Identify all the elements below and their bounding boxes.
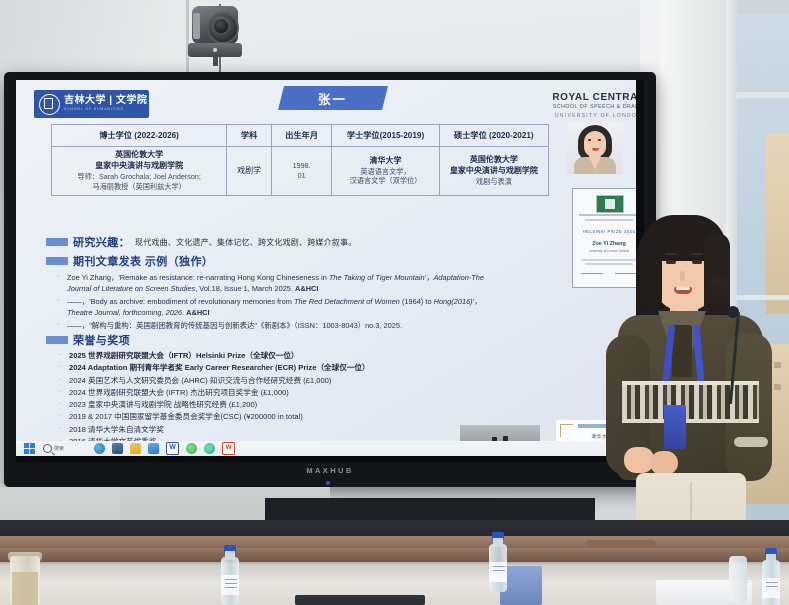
display-brand-label: MAXHUB (4, 466, 656, 475)
display-power-led (326, 481, 330, 485)
birth-month: 01 (274, 171, 329, 181)
search-placeholder: 搜索 (54, 445, 64, 452)
pub2-index: A&HCI (186, 308, 209, 317)
research-title: 研究兴趣： (73, 234, 130, 250)
camera-led (213, 48, 217, 52)
phd-line4: 马海丽教授（英国利兹大学） (54, 182, 224, 192)
bottle-label (489, 562, 507, 582)
td-discipline: 戏剧学 (227, 147, 272, 196)
presenter-hand-right (650, 451, 678, 475)
td-phd: 英国伦敦大学 皇家中央演讲与戏剧学院 导师：Sarah Grochala; Jo… (52, 147, 227, 196)
window-mullion-upper (736, 92, 789, 98)
sweater-fairisle-pattern (622, 385, 759, 419)
presenter-name-banner: 张一 (278, 86, 388, 110)
conference-table-edge (0, 548, 789, 562)
award-2: 2024 英国艺术与人文研究委员会 (AHRC) 知识交流与合作经研究经费 (£… (69, 375, 456, 387)
pub1-title: The Taking of Tiger Mountain' (329, 273, 426, 282)
cv-table: 博士学位 (2022-2026) 学科 出生年月 学士学位(2015-2019)… (51, 124, 549, 196)
ptz-camera (186, 4, 244, 66)
master-line2: 皇家中央演讲与戏剧学院 (442, 166, 546, 177)
rc-line1: ROYAL CENTRAL (546, 92, 636, 104)
tea-jar-contents (12, 572, 38, 605)
phd-line1: 英国伦敦大学 (54, 150, 224, 161)
table-row: 英国伦敦大学 皇家中央演讲与戏剧学院 导师：Sarah Grochala; Jo… (52, 147, 549, 196)
list-item: ·2024 世界戏剧研究联盟大会 (IFTR) 杰出研究项目奖学金 (£1,00… (56, 387, 456, 399)
taskbar-app-icons[interactable]: W W (94, 442, 235, 455)
publications-list: · Zoe Yi Zhang，'Remake as resistance: re… (54, 272, 494, 332)
section-research-interests: 研究兴趣： 现代戏曲、文化遗产、集体记忆、跨文化戏剧、跨媒介叙事。 (46, 234, 356, 250)
list-item: ·2024 Adaptation 期刊青年学者奖 Early Career Re… (56, 362, 456, 374)
bachelor-line2: 英语语言文学， (334, 167, 436, 177)
start-button-icon[interactable] (24, 443, 35, 454)
bullet-icon: · (56, 399, 64, 411)
presenter-portrait-photo (567, 122, 623, 174)
awards-title: 荣誉与奖项 (73, 332, 130, 348)
presenter-teeth (676, 287, 690, 290)
section-marker-icon (46, 336, 68, 344)
award-0: 2025 世界戏剧研究联盟大会（IFTR）Helsinki Prize（全球仅一… (69, 350, 456, 362)
publications-title: 期刊文章发表 示例（独作） (73, 253, 213, 269)
pub2-author: ——， (67, 297, 89, 306)
pub3-journal: 《新剧本》 (257, 321, 294, 330)
list-item: ·2024 英国艺术与人文研究委员会 (AHRC) 知识交流与合作经研究经费 (… (56, 375, 456, 387)
screenshot-scene: MAXHUB 吉林大学 | 文学院 SCHOOL OF HUMANITIES 张… (0, 0, 789, 605)
rc-line2: SCHOOL OF SPEECH & DRAMA (546, 105, 636, 111)
rc-line3: UNIVERSITY OF LONDON (546, 114, 636, 120)
pub3-author: ——， (67, 321, 89, 330)
bullet-icon: · (56, 362, 64, 374)
wechat-icon[interactable] (186, 443, 197, 454)
master-line1: 英国伦敦大学 (442, 155, 546, 166)
bullet-icon: · (56, 424, 64, 436)
taskbar-search[interactable]: 搜索 (43, 444, 64, 453)
camera-body (192, 6, 238, 44)
presenter (598, 215, 773, 570)
university-logo-en: SCHOOL OF HUMANITIES (64, 108, 147, 111)
phd-line2: 皇家中央演讲与戏剧学院 (54, 161, 224, 172)
cup-body (729, 556, 747, 602)
td-master: 英国伦敦大学 皇家中央演讲与戏剧学院 戏剧与表演 (439, 147, 548, 196)
presenter-name: 张一 (318, 89, 347, 108)
pub2-title: The Red Detachment of Women (294, 297, 400, 306)
list-item: · ——，"解构与重构：英国剧团教育的传统基因与创新表达"《新剧本》（ISSN：… (54, 320, 494, 331)
pub3-quote: "解构与重构：英国剧团教育的传统基因与创新表达" (89, 321, 257, 330)
presenter-eye-left (666, 260, 676, 264)
presenter-zip-placket (672, 325, 692, 377)
app-icon-blue[interactable] (148, 443, 159, 454)
pub2-journal: (1964) to (400, 297, 434, 306)
search-icon[interactable] (43, 444, 52, 453)
pub3-detail: （ISSN：1003-8043）no.3, 2025. (294, 321, 402, 330)
water-bottle-2 (487, 532, 509, 592)
university-seal-icon (39, 94, 60, 115)
bullet-icon: · (54, 272, 62, 295)
award-5: 2019 & 2017 中国国家留学基金委员会奖学金(CSC) (¥200000… (69, 411, 456, 423)
pub1-detail: , Vol.18, Issue 1, March 2025. (195, 284, 295, 293)
bottle-label (762, 578, 780, 598)
microphone-head (727, 306, 739, 318)
section-marker-icon (46, 238, 68, 246)
water-bottle-3 (760, 548, 782, 605)
water-bottle-1 (219, 545, 241, 605)
conference-badge (664, 405, 686, 449)
presenter-hair-left (640, 233, 662, 311)
td-birth: 1998. 01 (271, 147, 331, 196)
td-bachelor: 清华大学 英语语言文学， 汉语言文学（双学位） (332, 147, 439, 196)
th-phd: 博士学位 (2022-2026) (52, 125, 227, 147)
pub2-journal-italic: Hong (434, 297, 452, 306)
camera-lens (214, 19, 228, 33)
list-item: ·2023 皇家中央演讲与戏剧学院 战略性研究经费 (£1,200) (56, 399, 456, 411)
award-6: 2018 清华大学朱自清文学奖 (69, 424, 456, 436)
royal-central-logo: ROYAL CENTRAL SCHOOL OF SPEECH & DRAMA U… (546, 92, 636, 120)
research-body: 现代戏曲、文化遗产、集体记忆、跨文化戏剧、跨媒介叙事。 (135, 237, 356, 248)
teams-icon[interactable] (204, 443, 215, 454)
th-birth: 出生年月 (271, 125, 331, 147)
award-3: 2024 世界戏剧研究联盟大会 (IFTR) 杰出研究项目奖学金 (£1,000… (69, 387, 456, 399)
award-4: 2023 皇家中央演讲与戏剧学院 战略性研究经费 (£1,200) (69, 399, 456, 411)
portrait-face (584, 131, 606, 157)
th-discipline: 学科 (227, 125, 272, 147)
bullet-icon: · (56, 411, 64, 423)
iftr-logo-icon (596, 195, 624, 213)
edge-browser-icon[interactable] (94, 443, 105, 454)
pub1-author: Zoe Yi Zhang， (67, 273, 118, 282)
section-marker-icon (46, 257, 68, 265)
water-cup (727, 552, 749, 602)
award-1: 2024 Adaptation 期刊青年学者奖 Early Career Res… (69, 362, 456, 374)
camera-side-panel (193, 13, 200, 39)
th-bachelor: 学士学位(2015-2019) (332, 125, 439, 147)
section-publications: 期刊文章发表 示例（独作） (46, 253, 213, 269)
list-item: · ——，'Body as archive: embodiment of rev… (54, 296, 494, 319)
wps-icon[interactable]: W (222, 442, 235, 455)
th-master: 硕士学位 (2020-2021) (439, 125, 548, 147)
camera-mount-stem (213, 57, 218, 66)
bottle-label (221, 575, 239, 595)
pub1-index: A&HCI (295, 284, 318, 293)
presentation-slide[interactable]: 吉林大学 | 文学院 SCHOOL OF HUMANITIES 张一 ROYAL… (16, 80, 636, 456)
phd-line3: 导师：Sarah Grochala; Joel Anderson; (54, 172, 224, 182)
university-logo: 吉林大学 | 文学院 SCHOOL OF HUMANITIES (34, 90, 149, 118)
birth-year: 1998. (274, 161, 329, 171)
list-item: · Zoe Yi Zhang，'Remake as resistance: re… (54, 272, 494, 295)
table-nameplate (295, 595, 425, 605)
bullet-icon: · (56, 350, 64, 362)
university-logo-cn: 吉林大学 | 文学院 (64, 96, 147, 106)
folder-icon[interactable] (130, 443, 141, 454)
list-item: ·2025 世界戏剧研究联盟大会（IFTR）Helsinki Prize（全球仅… (56, 350, 456, 362)
list-item: ·2019 & 2017 中国国家留学基金委员会奖学金(CSC) (¥20000… (56, 411, 456, 423)
presenter-eye-right (692, 260, 702, 264)
bullet-icon: · (56, 387, 64, 399)
bullet-icon: · (56, 375, 64, 387)
master-line3: 戏剧与表演 (442, 177, 546, 187)
file-manager-icon[interactable] (112, 443, 123, 454)
bullet-icon: · (54, 320, 62, 331)
word-icon[interactable]: W (166, 442, 179, 455)
sweater-pattern-bottom-band (622, 419, 759, 423)
pub2-quote: 'Body as archive: embodiment of revoluti… (89, 297, 294, 306)
pub1-quote: 'Remake as resistance: re-narrating Hong… (118, 273, 329, 282)
bachelor-line1: 清华大学 (334, 156, 436, 167)
sweater-cuff (734, 437, 768, 447)
list-item: ·2018 清华大学朱自清文学奖 (56, 424, 456, 436)
presenter-nose (680, 271, 685, 281)
awards-list: ·2025 世界戏剧研究联盟大会（IFTR）Helsinki Prize（全球仅… (56, 350, 456, 448)
table-header-row: 博士学位 (2022-2026) 学科 出生年月 学士学位(2015-2019)… (52, 125, 549, 147)
windows-taskbar[interactable]: 搜索 W W (16, 441, 636, 456)
bachelor-line3: 汉语言文学（双学位） (334, 176, 436, 186)
section-awards: 荣誉与奖项 (46, 332, 130, 348)
bullet-icon: · (54, 296, 62, 319)
portrait-mouth (592, 148, 599, 151)
